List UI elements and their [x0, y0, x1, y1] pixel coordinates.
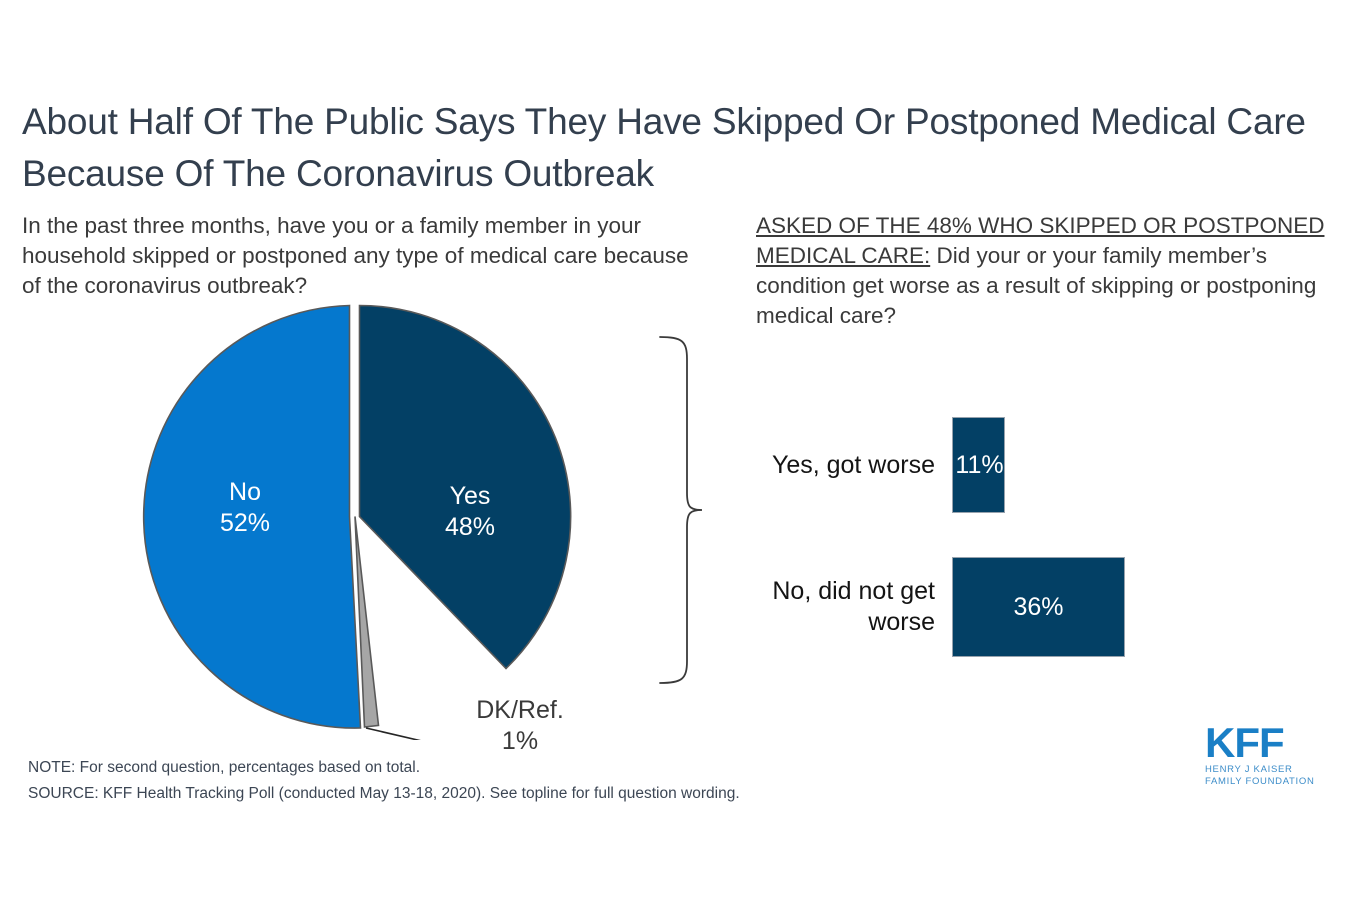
note-text: NOTE: For second question, percentages b… — [28, 757, 420, 778]
kff-logo-wordmark: KFF — [1205, 722, 1325, 764]
source-text: SOURCE: KFF Health Tracking Poll (conduc… — [28, 783, 740, 804]
bar-row: Yes, got worse 11% — [760, 417, 1180, 513]
pie-slice-yes[interactable] — [360, 305, 571, 668]
pie-slice-no[interactable] — [144, 306, 361, 729]
pie-label-dk-ref-value: 1% — [440, 726, 600, 757]
bar-category-label-no-did-not-get-worse: No, did not get worse — [760, 576, 952, 638]
bar-track: 36% — [952, 557, 1125, 657]
question-text-right: ASKED OF THE 48% WHO SKIPPED OR POSTPONE… — [756, 211, 1336, 331]
pie-label-dk-ref-category: DK/Ref. — [440, 695, 600, 726]
pie-chart-svg — [138, 300, 578, 740]
kff-logo-line1: HENRY J KAISER — [1205, 764, 1325, 776]
kff-logo: KFF HENRY J KAISER FAMILY FOUNDATION — [1205, 722, 1325, 792]
pie-label-dk-ref: DK/Ref. 1% — [440, 695, 600, 757]
bar-row: No, did not get worse 36% — [760, 557, 1180, 657]
kff-logo-line2: FAMILY FOUNDATION — [1205, 776, 1325, 788]
bar-chart: Yes, got worse 11% No, did not get worse… — [760, 405, 1180, 675]
bar-no-did-not-get-worse[interactable]: 36% — [952, 557, 1125, 657]
bar-value-yes-got-worse: 11% — [955, 451, 1003, 480]
brace-icon — [640, 325, 750, 695]
bar-yes-got-worse[interactable]: 11% — [952, 417, 1005, 513]
bar-category-label-yes-got-worse: Yes, got worse — [760, 450, 952, 481]
pie-chart — [138, 300, 578, 740]
brace-connector — [640, 325, 750, 695]
bar-value-no-did-not-get-worse: 36% — [1013, 593, 1063, 622]
page-title: About Half Of The Public Says They Have … — [22, 96, 1322, 200]
slide-canvas: About Half Of The Public Says They Have … — [0, 0, 1350, 900]
bar-track: 11% — [952, 417, 1005, 513]
question-text-left: In the past three months, have you or a … — [22, 211, 712, 301]
